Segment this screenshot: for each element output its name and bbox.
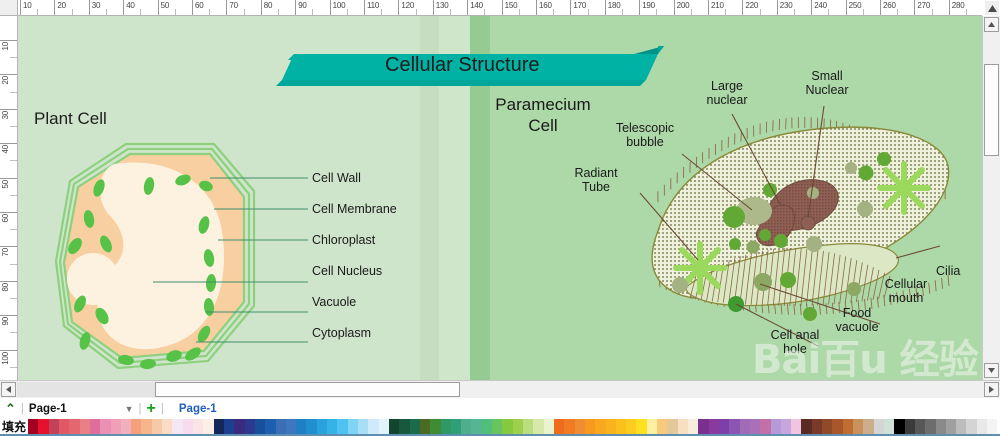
color-swatch[interactable]: [822, 419, 832, 434]
ruler-tick-label: 250: [849, 1, 862, 10]
color-swatch[interactable]: [265, 419, 275, 434]
color-swatch[interactable]: [358, 419, 368, 434]
color-swatch[interactable]: [832, 419, 842, 434]
horizontal-scroll-thumb[interactable]: [155, 382, 460, 397]
ruler-tick-label: 210: [711, 1, 724, 10]
color-swatch[interactable]: [162, 419, 172, 434]
color-swatch[interactable]: [152, 419, 162, 434]
color-swatch[interactable]: [203, 419, 213, 434]
small-nucleus: [801, 216, 815, 230]
color-swatch[interactable]: [276, 419, 286, 434]
page-tab-page-1[interactable]: Page-1: [179, 403, 217, 415]
color-swatch[interactable]: [183, 419, 193, 434]
color-swatch[interactable]: [286, 419, 296, 434]
ruler-tick: [605, 0, 606, 16]
color-swatch[interactable]: [863, 419, 873, 434]
label-chloroplast: Chloroplast: [312, 233, 375, 247]
ruler-minor-tick: [622, 9, 623, 16]
ruler-tick: [295, 0, 296, 16]
color-swatch[interactable]: [141, 419, 151, 434]
ruler-tick-label: 60: [195, 1, 204, 10]
color-swatch[interactable]: [626, 419, 636, 434]
ruler-tick-label: 120: [401, 1, 414, 10]
ruler-minor-tick: [10, 298, 18, 299]
color-swatch[interactable]: [544, 419, 554, 434]
color-swatch[interactable]: [781, 419, 791, 434]
color-swatch[interactable]: [801, 419, 811, 434]
ruler-tick-label: 200: [677, 1, 690, 10]
color-swatch[interactable]: [193, 419, 203, 434]
cilium: [787, 304, 788, 315]
ruler-tick: [949, 0, 950, 16]
ruler-tick: [261, 0, 262, 16]
color-swatch[interactable]: [224, 419, 234, 434]
ruler-tick-label: 280: [952, 1, 965, 10]
ruler-minor-tick: [347, 9, 348, 16]
ruler-tick: [20, 0, 21, 16]
color-swatch[interactable]: [59, 419, 69, 434]
scroll-left-button[interactable]: [1, 382, 16, 397]
ruler-minor-tick: [725, 9, 726, 16]
fill-label: 填充: [0, 418, 28, 435]
color-swatch[interactable]: [760, 419, 770, 434]
color-swatch[interactable]: [853, 419, 863, 434]
ruler-corner: [0, 0, 18, 16]
ruler-tick-label: 150: [505, 1, 518, 10]
ruler-tick: [708, 0, 709, 16]
vertical-scrollbar[interactable]: [982, 16, 1000, 380]
label-cell-wall: Cell Wall: [312, 171, 361, 185]
scroll-right-button[interactable]: [984, 382, 999, 397]
color-swatch[interactable]: [214, 419, 224, 434]
color-swatch[interactable]: [100, 419, 110, 434]
color-swatch[interactable]: [131, 419, 141, 434]
color-swatch[interactable]: [936, 419, 946, 434]
color-swatch[interactable]: [348, 419, 358, 434]
ruler-minor-tick: [416, 9, 417, 16]
page-name-label[interactable]: Page-1: [29, 403, 67, 415]
label-telescopic-bubble-line1: Telescopic: [602, 121, 688, 135]
cilium: [786, 118, 787, 129]
ruler-minor-tick: [106, 9, 107, 16]
ruler-tick: [123, 0, 124, 16]
color-swatch[interactable]: [80, 419, 90, 434]
ruler-minor-tick: [10, 195, 18, 196]
label-cellular-mouth-line2: mouth: [870, 291, 942, 305]
color-swatch-list[interactable]: [28, 419, 1000, 434]
color-swatch[interactable]: [636, 419, 646, 434]
ruler-tick-label: 70: [229, 1, 238, 10]
color-swatch[interactable]: [121, 419, 131, 434]
ruler-tick-label: 70: [1, 248, 10, 257]
ruler-tick: [742, 0, 743, 16]
pagebar-divider-2: |: [139, 403, 142, 415]
ruler-tick-label: 50: [1, 180, 10, 189]
label-vacuole: Vacuole: [312, 295, 356, 309]
color-swatch[interactable]: [471, 419, 481, 434]
color-swatch[interactable]: [698, 419, 708, 434]
ruler-tick: [364, 0, 365, 16]
ruler-minor-tick: [10, 57, 18, 58]
chevron-up-icon[interactable]: ⌃: [5, 401, 16, 417]
ruler-tick-label: 130: [436, 1, 449, 10]
color-swatch[interactable]: [28, 419, 38, 434]
ruler-tick-label: 90: [298, 1, 307, 10]
color-swatch[interactable]: [894, 419, 904, 434]
plant-cell-nucleus: [67, 253, 119, 305]
paramecium-title-line1: Paramecium: [473, 94, 613, 115]
color-swatch[interactable]: [987, 419, 997, 434]
ruler-tick-label: 90: [1, 317, 10, 326]
ruler-tick: [914, 0, 915, 16]
ruler-minor-tick: [588, 9, 589, 16]
color-swatch[interactable]: [245, 419, 255, 434]
color-swatch[interactable]: [234, 419, 244, 434]
color-swatch[interactable]: [49, 419, 59, 434]
ruler-minor-tick: [10, 229, 18, 230]
ruler-minor-tick: [278, 9, 279, 16]
ruler-tick-label: 20: [57, 1, 66, 10]
color-swatch[interactable]: [740, 419, 750, 434]
color-swatch[interactable]: [482, 419, 492, 434]
color-swatch[interactable]: [564, 419, 574, 434]
ruler-minor-tick: [10, 332, 18, 333]
ruler-tick-label: 40: [1, 145, 10, 154]
label-cellular-mouth: Cellular mouth: [870, 277, 942, 305]
color-swatch[interactable]: [533, 419, 543, 434]
color-swatch[interactable]: [399, 419, 409, 434]
diagram-title: Cellular Structure: [385, 54, 540, 77]
ruler-tick-label: 180: [608, 1, 621, 10]
color-swatch[interactable]: [595, 419, 605, 434]
color-swatch[interactable]: [925, 419, 935, 434]
color-swatch[interactable]: [90, 419, 100, 434]
ruler-tick-label: 190: [642, 1, 655, 10]
pagebar-divider-3: |: [161, 403, 164, 415]
color-swatch[interactable]: [38, 419, 48, 434]
color-swatch[interactable]: [461, 419, 471, 434]
ruler-tick-label: 30: [92, 1, 101, 10]
plant-cell-title: Plant Cell: [34, 109, 107, 129]
ruler-minor-tick: [10, 92, 18, 93]
color-swatch[interactable]: [327, 419, 337, 434]
ruler-tick-label: 20: [1, 76, 10, 85]
color-swatch[interactable]: [111, 419, 121, 434]
color-swatch[interactable]: [771, 419, 781, 434]
color-swatch[interactable]: [915, 419, 925, 434]
ruler-tick-label: 230: [780, 1, 793, 10]
color-swatch[interactable]: [843, 419, 853, 434]
ruler-minor-tick: [691, 9, 692, 16]
ruler-tick: [0, 178, 18, 179]
contractile-vacuole-right: [880, 164, 928, 212]
hscroll-track[interactable]: [17, 382, 155, 397]
ruler-minor-tick: [450, 9, 451, 16]
add-page-button[interactable]: +: [147, 404, 156, 414]
ruler-minor-tick: [10, 367, 18, 368]
scroll-up-button[interactable]: [984, 17, 999, 32]
page-bar: ⌃ | Page-1 ▼ | + | Page-1: [0, 399, 1000, 418]
ruler-tick: [639, 0, 640, 16]
ruler-tick: [846, 0, 847, 16]
ruler-tick-label: 10: [23, 1, 32, 10]
cilium: [781, 303, 782, 314]
color-swatch[interactable]: [750, 419, 760, 434]
vertical-scroll-thumb[interactable]: [984, 64, 999, 156]
ruler-tick-label: 140: [470, 1, 483, 10]
ruler-minor-tick: [209, 9, 210, 16]
color-swatch[interactable]: [719, 419, 729, 434]
color-swatch[interactable]: [977, 419, 987, 434]
cilium: [794, 304, 795, 315]
ruler-tick-label: 110: [367, 1, 379, 10]
label-cell-anal-hole-line1: Cell anal: [758, 328, 832, 342]
ruler-minor-tick: [72, 9, 73, 16]
ruler-tick: [398, 0, 399, 16]
color-swatch[interactable]: [255, 419, 265, 434]
label-radiant-tube-line1: Radiant: [558, 166, 634, 180]
ruler-tick: [226, 0, 227, 16]
color-swatch[interactable]: [337, 419, 347, 434]
ruler-minor-tick: [760, 9, 761, 16]
label-cilia: Cilia: [936, 264, 960, 278]
color-swatch[interactable]: [812, 419, 822, 434]
ruler-tick-label: 30: [1, 111, 10, 120]
color-swatch[interactable]: [410, 419, 420, 434]
ruler-minor-tick: [10, 160, 18, 161]
color-swatch[interactable]: [874, 419, 884, 434]
ruler-minor-tick: [897, 9, 898, 16]
color-swatch[interactable]: [678, 419, 688, 434]
ruler-minor-tick: [10, 264, 18, 265]
label-large-nuclear-line1: Large: [690, 79, 764, 93]
label-telescopic-bubble-line2: bubble: [602, 135, 688, 149]
label-food-vacuole: Food vacuole: [824, 306, 890, 334]
color-swatch[interactable]: [554, 419, 564, 434]
color-swatch[interactable]: [296, 419, 306, 434]
color-swatch[interactable]: [492, 419, 502, 434]
color-swatch[interactable]: [884, 419, 894, 434]
label-radiant-tube: Radiant Tube: [558, 166, 634, 194]
ruler-tick: [0, 350, 18, 351]
paramecium-title-line2: Cell: [473, 115, 613, 136]
label-cytoplasm: Cytoplasm: [312, 326, 371, 340]
color-swatch[interactable]: [502, 419, 512, 434]
scroll-down-button[interactable]: [984, 363, 999, 378]
color-swatch[interactable]: [420, 419, 430, 434]
ruler-tick-label: 240: [814, 1, 827, 10]
ruler-tick-label: 220: [745, 1, 758, 10]
color-swatch[interactable]: [956, 419, 966, 434]
color-swatch[interactable]: [647, 419, 657, 434]
color-swatch[interactable]: [585, 419, 595, 434]
ruler-minor-tick: [244, 9, 245, 16]
ruler-scroll-up-icon[interactable]: [985, 1, 999, 15]
label-cellular-mouth-line1: Cellular: [870, 277, 942, 291]
ruler-tick: [158, 0, 159, 16]
ruler-tick: [880, 0, 881, 16]
color-swatch[interactable]: [69, 419, 79, 434]
ruler-minor-tick: [828, 9, 829, 16]
ruler-tick-label: 160: [539, 1, 552, 10]
label-large-nuclear: Large nuclear: [690, 79, 764, 107]
ruler-tick-label: 80: [1, 283, 10, 292]
ruler-tick: [777, 0, 778, 16]
label-radiant-tube-line2: Tube: [558, 180, 634, 194]
color-swatch[interactable]: [441, 419, 451, 434]
ruler-tick-label: 50: [161, 1, 170, 10]
color-swatch[interactable]: [688, 419, 698, 434]
label-cell-membrane: Cell Membrane: [312, 202, 397, 216]
paramecium-cell-title: Paramecium Cell: [473, 94, 613, 136]
ruler-tick-label: 170: [573, 1, 586, 10]
ruler-minor-tick: [932, 9, 933, 16]
color-swatch[interactable]: [430, 419, 440, 434]
color-swatch[interactable]: [729, 419, 739, 434]
label-cell-anal-hole-line2: hole: [758, 342, 832, 356]
ruler-tick: [502, 0, 503, 16]
chevron-down-icon[interactable]: ▼: [125, 404, 134, 414]
ruler-tick: [192, 0, 193, 16]
color-swatch[interactable]: [523, 419, 533, 434]
ruler-minor-tick: [10, 126, 18, 127]
color-swatch[interactable]: [575, 419, 585, 434]
ruler-minor-tick: [312, 9, 313, 16]
label-small-nuclear-line2: Nuclear: [790, 83, 864, 97]
ruler-tick: [54, 0, 55, 16]
label-food-vacuole-line1: Food: [824, 306, 890, 320]
ruler-tick: [433, 0, 434, 16]
label-cell-anal-hole: Cell anal hole: [758, 328, 832, 356]
label-large-nuclear-line2: nuclear: [690, 93, 764, 107]
ruler-minor-tick: [656, 9, 657, 16]
diagram-editor-window: 1020304050607080901001101201301401501601…: [0, 0, 1000, 436]
ruler-tick-label: 260: [883, 1, 896, 10]
ruler-tick-label: 60: [1, 214, 10, 223]
ruler-tick-label: 40: [126, 1, 135, 10]
horizontal-scrollbar[interactable]: [0, 380, 1000, 398]
color-swatch[interactable]: [172, 419, 182, 434]
ruler-tick: [89, 0, 90, 16]
ruler-tick: [674, 0, 675, 16]
drawing-canvas[interactable]: Cellular Structure Plant Cell Paramecium…: [18, 16, 982, 380]
ruler-tick-label: 100: [1, 352, 10, 365]
ruler-tick: [536, 0, 537, 16]
ruler-tick-label: 270: [917, 1, 930, 10]
label-cell-nucleus: Cell Nucleus: [312, 264, 382, 278]
ruler-minor-tick: [175, 9, 176, 16]
vertical-ruler[interactable]: 102030405060708090100: [0, 16, 18, 380]
label-small-nuclear: Small Nuclear: [790, 69, 864, 97]
color-swatch[interactable]: [966, 419, 976, 434]
color-swatch[interactable]: [317, 419, 327, 434]
color-swatch[interactable]: [606, 419, 616, 434]
ruler-tick-label: 100: [333, 1, 346, 10]
ruler-minor-tick: [381, 9, 382, 16]
cilium: [820, 304, 821, 315]
ruler-tick: [330, 0, 331, 16]
ruler-tick: [467, 0, 468, 16]
ruler-tick-label: 80: [264, 1, 273, 10]
color-swatch[interactable]: [368, 419, 378, 434]
ruler-tick: [570, 0, 571, 16]
color-swatch[interactable]: [616, 419, 626, 434]
ruler-tick: [811, 0, 812, 16]
color-swatch[interactable]: [791, 419, 801, 434]
color-swatch[interactable]: [946, 419, 956, 434]
label-telescopic-bubble: Telescopic bubble: [602, 121, 688, 149]
color-swatch[interactable]: [709, 419, 719, 434]
ruler-minor-tick: [37, 9, 38, 16]
color-swatch[interactable]: [657, 419, 667, 434]
color-swatch[interactable]: [306, 419, 316, 434]
ruler-minor-tick: [863, 9, 864, 16]
plant-cell-drawing: [56, 144, 308, 370]
ruler-minor-tick: [140, 9, 141, 16]
label-food-vacuole-line2: vacuole: [824, 320, 890, 334]
horizontal-ruler[interactable]: 1020304050607080901001101201301401501601…: [18, 0, 982, 16]
pagebar-divider-1: |: [21, 403, 24, 415]
color-swatch[interactable]: [389, 419, 399, 434]
color-swatch[interactable]: [451, 419, 461, 434]
color-swatch[interactable]: [905, 419, 915, 434]
ruler-minor-tick: [966, 9, 967, 16]
ruler-minor-tick: [519, 9, 520, 16]
color-swatch[interactable]: [379, 419, 389, 434]
color-swatch[interactable]: [667, 419, 677, 434]
label-small-nuclear-line1: Small: [790, 69, 864, 83]
color-swatch[interactable]: [513, 419, 523, 434]
ruler-tick-label: 10: [1, 42, 10, 51]
ruler-minor-tick: [553, 9, 554, 16]
ruler-minor-tick: [484, 9, 485, 16]
ruler-minor-tick: [794, 9, 795, 16]
fill-color-palette-bar: 填充: [0, 418, 1000, 436]
